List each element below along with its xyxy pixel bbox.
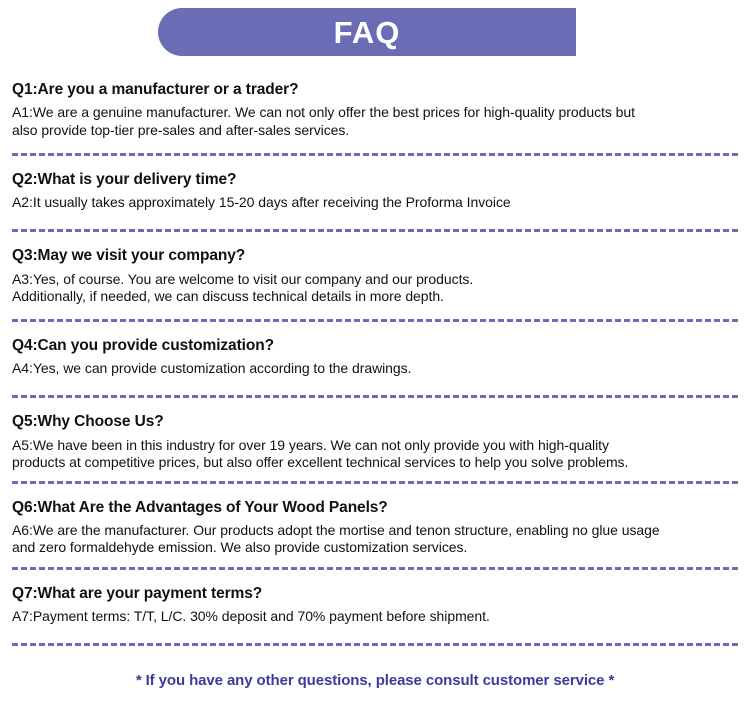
faq-answer-1-line-2: also provide top-tier pre-sales and afte… [12,122,738,139]
faq-item-3: Q3:May we visit your company? A3:Yes, of… [12,232,738,322]
faq-question-5: Q5:Why Choose Us? [12,412,738,436]
faq-answer-4: A4:Yes, we can provide customization acc… [12,360,738,377]
faq-item-4: Q4:Can you provide customization? A4:Yes… [12,322,738,399]
faq-list: Q1:Are you a manufacturer or a trader? A… [0,64,750,646]
faq-answer-5: A5:We have been in this industry for ove… [12,437,738,471]
faq-answer-1-line-1: A1:We are a genuine manufacturer. We can… [12,104,738,121]
page-title: FAQ [334,17,401,48]
spacer [12,377,738,395]
faq-question-3: Q3:May we visit your company? [12,246,738,270]
faq-answer-2: A2:It usually takes approximately 15-20 … [12,194,738,211]
faq-answer-6-line-2: and zero formaldehyde emission. We also … [12,539,738,556]
faq-question-2-wrap: Q2:What is your delivery time? [12,156,738,194]
faq-question-1: Q1:Are you a manufacturer or a trader? [12,80,738,104]
spacer [12,211,738,229]
spacer [12,471,738,481]
faq-item-6: Q6:What Are the Advantages of Your Wood … [12,484,738,570]
faq-answer-3: A3:Yes, of course. You are welcome to vi… [12,271,738,305]
faq-answer-7-line-1: A7:Payment terms: T/T, L/C. 30% deposit … [12,608,738,625]
faq-answer-5-line-2: products at competitive prices, but also… [12,454,738,471]
spacer [12,305,738,319]
faq-question-2: Q2:What is your delivery time? [12,170,738,194]
footer-note: * If you have any other questions, pleas… [136,672,614,689]
faq-answer-4-line-1: A4:Yes, we can provide customization acc… [12,360,738,377]
faq-question-6-wrap: Q6:What Are the Advantages of Your Wood … [12,484,738,522]
faq-answer-3-line-2: Additionally, if needed, we can discuss … [12,288,738,305]
faq-header: FAQ [0,0,750,64]
faq-item-2: Q2:What is your delivery time? A2:It usu… [12,156,738,233]
spacer [12,139,738,153]
faq-answer-6-line-1: A6:We are the manufacturer. Our products… [12,522,738,539]
faq-answer-5-line-1: A5:We have been in this industry for ove… [12,437,738,454]
faq-question-6: Q6:What Are the Advantages of Your Wood … [12,498,738,522]
spacer [12,625,738,643]
faq-item-7: Q7:What are your payment terms? A7:Payme… [12,570,738,647]
faq-answer-1: A1:We are a genuine manufacturer. We can… [12,104,738,138]
spacer [12,557,738,567]
faq-item-1: Q1:Are you a manufacturer or a trader? A… [12,64,738,156]
faq-item-5: Q5:Why Choose Us? A5:We have been in thi… [12,398,738,484]
faq-answer-6: A6:We are the manufacturer. Our products… [12,522,738,556]
faq-answer-2-line-1: A2:It usually takes approximately 15-20 … [12,194,738,211]
faq-question-3-wrap: Q3:May we visit your company? [12,232,738,270]
faq-question-4-wrap: Q4:Can you provide customization? [12,322,738,360]
faq-header-banner: FAQ [158,8,576,56]
faq-question-5-wrap: Q5:Why Choose Us? [12,398,738,436]
faq-footer: * If you have any other questions, pleas… [0,646,750,690]
faq-answer-7: A7:Payment terms: T/T, L/C. 30% deposit … [12,608,738,625]
faq-question-7: Q7:What are your payment terms? [12,584,738,608]
faq-page: { "header": { "title": "FAQ", "banner_co… [0,0,750,721]
faq-question-7-wrap: Q7:What are your payment terms? [12,570,738,608]
faq-answer-3-line-1: A3:Yes, of course. You are welcome to vi… [12,271,738,288]
faq-question-4: Q4:Can you provide customization? [12,336,738,360]
faq-question-1-wrap: Q1:Are you a manufacturer or a trader? [12,64,738,104]
